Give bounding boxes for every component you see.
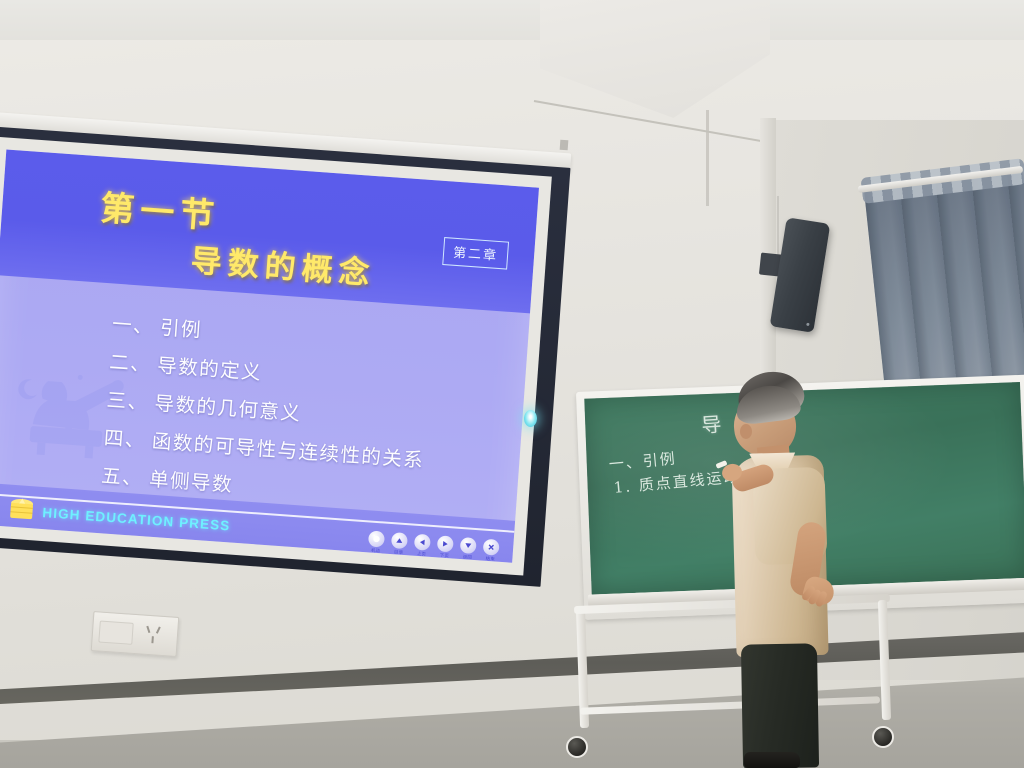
projection-screen: 第一节 导数的概念 第二章 — [0, 126, 571, 587]
chalk-line-1: 一、引例 — [608, 447, 678, 474]
nav-return-button[interactable]: 返回 — [460, 537, 477, 554]
light-switch-icon[interactable] — [98, 621, 133, 645]
teacher-at-blackboard — [716, 372, 866, 768]
column-edge — [706, 110, 709, 206]
slide-outline-list: 一、引例 二、导数的定义 三、导数的几何意义 四、函数的可导性与连续性的关系 五… — [100, 306, 513, 524]
caster-wheel — [872, 726, 894, 748]
power-socket-icon — [140, 622, 168, 648]
teacher-trousers — [741, 643, 819, 768]
classroom-scene: 第一节 导数的概念 第二章 — [0, 0, 1024, 768]
book-emblem-logo — [6, 496, 38, 524]
slide-title-line1: 第一节 — [99, 180, 222, 237]
speaker-led-icon — [806, 323, 809, 326]
nav-up-button[interactable]: 目录 — [391, 532, 408, 549]
chapter-badge: 第二章 — [442, 237, 509, 270]
list-item-label: 单侧导数 — [148, 468, 233, 497]
nav-close-button[interactable]: 结束 — [483, 539, 500, 556]
list-item-number: 五、 — [100, 464, 144, 490]
lecture-slide: 第一节 导数的概念 第二章 — [0, 150, 539, 563]
list-item-label: 引例 — [159, 316, 203, 342]
nav-next-button[interactable]: 下页 — [437, 535, 454, 552]
wall-indicator-light-icon — [524, 410, 537, 427]
list-item-number: 一、 — [111, 313, 155, 339]
list-item-number: 三、 — [106, 388, 150, 414]
caster-wheel — [566, 736, 588, 758]
screen-case-end-cap — [560, 140, 569, 151]
nav-prev-button[interactable]: 上页 — [414, 534, 431, 551]
list-item-number: 四、 — [103, 426, 147, 452]
list-item-number: 二、 — [109, 350, 153, 376]
wall-switch-and-socket[interactable] — [91, 611, 180, 657]
list-item-label: 导数的定义 — [157, 354, 263, 384]
list-item-label: 导数的几何意义 — [154, 392, 302, 425]
nav-home-button[interactable]: 机动 — [368, 530, 385, 547]
speaker-cable — [777, 196, 779, 260]
teacher-ear — [740, 424, 752, 439]
teacher-shoe — [744, 752, 800, 768]
